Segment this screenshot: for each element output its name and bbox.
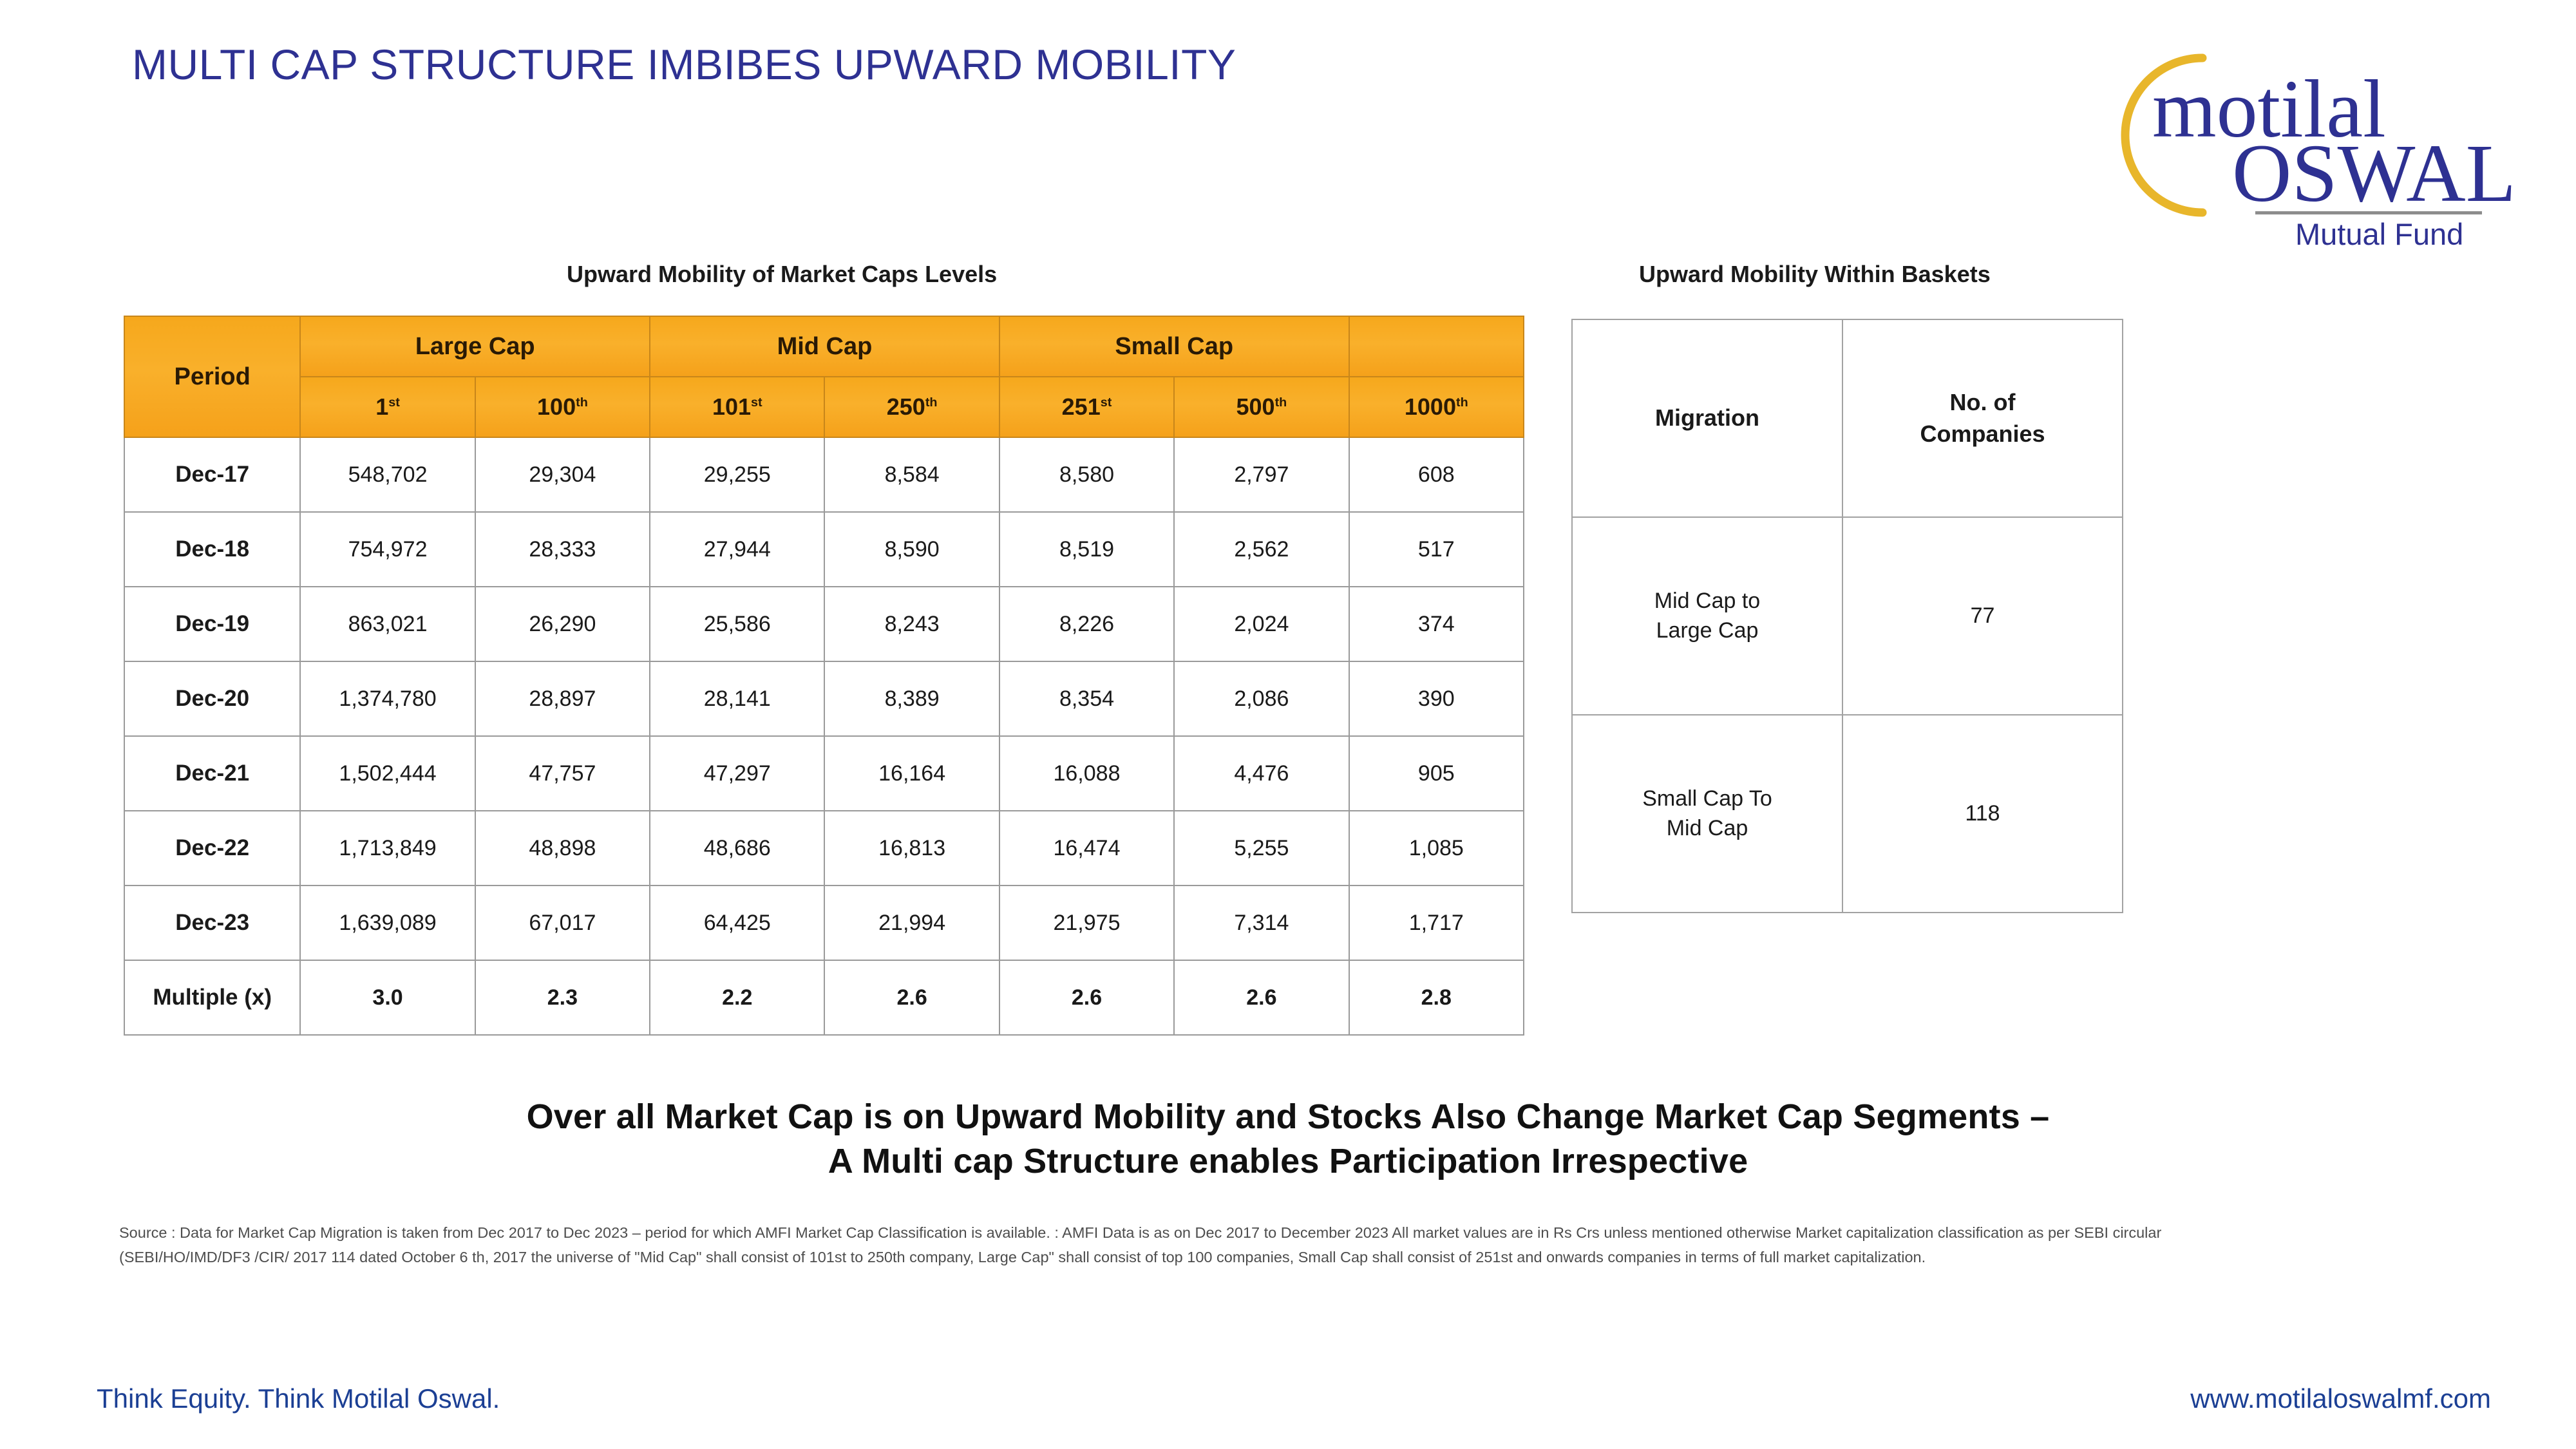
table-row: Dec-20 1,374,780 28,897 28,141 8,389 8,3… [124,661,1524,736]
row-period: Dec-21 [124,736,300,811]
footer-website-link[interactable]: www.motilaloswalmf.com [2190,1383,2491,1414]
cell-value: 754,972 [300,512,475,587]
cell-value: 67,017 [475,885,650,960]
cell-value: 16,088 [999,736,1174,811]
cell-value: 5,255 [1174,811,1349,885]
table-head: Period Large Cap Mid Cap Small Cap 1st 1… [124,316,1524,437]
rank-num: 251 [1062,393,1101,420]
header-rank-250th: 250th [824,377,999,437]
cell-multiple: 2.3 [475,960,650,1035]
header-companies-line2: Companies [1920,421,2045,447]
table-row: Mid Cap to Large Cap 77 [1572,517,2123,715]
rank-ord: th [1275,395,1287,410]
baskets-table-head: Migration No. of Companies [1572,319,2123,517]
cell-value: 1,085 [1349,811,1524,885]
header-group-empty [1349,316,1524,377]
cell-value: 374 [1349,587,1524,661]
cell-value: 48,898 [475,811,650,885]
rank-ord: st [1101,395,1112,410]
cell-value: 47,757 [475,736,650,811]
cell-value: 548,702 [300,437,475,512]
cell-migration: Small Cap To Mid Cap [1572,715,1842,913]
cell-value: 21,994 [824,885,999,960]
header-rank-101st: 101st [650,377,824,437]
cell-multiple: 2.6 [1174,960,1349,1035]
cell-value: 47,297 [650,736,824,811]
table-row: Dec-18 754,972 28,333 27,944 8,590 8,519… [124,512,1524,587]
cell-value: 517 [1349,512,1524,587]
upward-mobility-baskets-table: Migration No. of Companies Mid Cap to La… [1571,319,2123,913]
cell-value: 7,314 [1174,885,1349,960]
cell-value: 1,717 [1349,885,1524,960]
row-label-multiple: Multiple (x) [124,960,300,1035]
table-row: Dec-17 548,702 29,304 29,255 8,584 8,580… [124,437,1524,512]
cell-multiple: 2.2 [650,960,824,1035]
cell-value: 8,243 [824,587,999,661]
table-row: Small Cap To Mid Cap 118 [1572,715,2123,913]
cell-value: 48,686 [650,811,824,885]
cell-multiple: 2.6 [824,960,999,1035]
cell-value: 27,944 [650,512,824,587]
header-rank-100th: 100th [475,377,650,437]
cell-multiple: 2.8 [1349,960,1524,1035]
migration-line1: Small Cap To [1642,786,1772,811]
rank-ord: st [751,395,762,410]
header-no-of-companies: No. of Companies [1842,319,2123,517]
header-rank-251st: 251st [999,377,1174,437]
rank-ord: th [576,395,588,410]
table-row: Dec-23 1,639,089 67,017 64,425 21,994 21… [124,885,1524,960]
rank-num: 500 [1236,393,1274,420]
cell-value: 21,975 [999,885,1174,960]
header-rank-500th: 500th [1174,377,1349,437]
cell-migration: Mid Cap to Large Cap [1572,517,1842,715]
cell-value: 29,304 [475,437,650,512]
table-row: Dec-19 863,021 26,290 25,586 8,243 8,226… [124,587,1524,661]
cell-value: 16,474 [999,811,1174,885]
cell-multiple: 2.6 [999,960,1174,1035]
rank-num: 1 [375,393,388,420]
header-group-small-cap: Small Cap [999,316,1349,377]
right-table-caption: Upward Mobility Within Baskets [1639,261,1991,288]
cell-value: 8,389 [824,661,999,736]
rank-ord: st [388,395,400,410]
rank-ord: th [1456,395,1468,410]
cell-value: 28,897 [475,661,650,736]
cell-value: 16,813 [824,811,999,885]
row-period: Dec-23 [124,885,300,960]
header-migration: Migration [1572,319,1842,517]
header-companies-line1: No. of [1950,389,2016,415]
left-table-caption: Upward Mobility of Market Caps Levels [567,261,997,288]
header-group-mid-cap: Mid Cap [650,316,999,377]
migration-line1: Mid Cap to [1654,589,1760,613]
cell-value: 29,255 [650,437,824,512]
rank-num: 1000 [1405,393,1456,420]
market-cap-mobility-table: Period Large Cap Mid Cap Small Cap 1st 1… [124,316,1524,1036]
footer-tagline: Think Equity. Think Motilal Oswal. [97,1383,500,1414]
cell-value: 8,354 [999,661,1174,736]
cell-value: 25,586 [650,587,824,661]
cell-value: 64,425 [650,885,824,960]
cell-value: 8,584 [824,437,999,512]
table-body: Dec-17 548,702 29,304 29,255 8,584 8,580… [124,437,1524,1035]
cell-value: 8,519 [999,512,1174,587]
cell-value: 8,590 [824,512,999,587]
header-rank-1000th: 1000th [1349,377,1524,437]
rank-ord: th [925,395,938,410]
table-row: Dec-22 1,713,849 48,898 48,686 16,813 16… [124,811,1524,885]
cell-value: 16,164 [824,736,999,811]
migration-line2: Large Cap [1656,618,1759,643]
migration-line2: Mid Cap [1667,816,1748,840]
row-period: Dec-20 [124,661,300,736]
rank-num: 250 [887,393,925,420]
cell-multiple: 3.0 [300,960,475,1035]
tagline-line-2: A Multi cap Structure enables Participat… [0,1139,2576,1184]
logo-word-oswal: OSWAL [2232,128,2516,219]
cell-value: 905 [1349,736,1524,811]
sub-header-row: 1st 100th 101st 250th 251st 500th 1000th [124,377,1524,437]
tagline-line-1: Over all Market Cap is on Upward Mobilit… [0,1095,2576,1139]
cell-value: 8,580 [999,437,1174,512]
table-row: Dec-21 1,502,444 47,757 47,297 16,164 16… [124,736,1524,811]
group-header-row: Period Large Cap Mid Cap Small Cap [124,316,1524,377]
key-takeaway-tagline: Over all Market Cap is on Upward Mobilit… [0,1095,2576,1184]
cell-value: 1,639,089 [300,885,475,960]
motilal-oswal-logo: motilal OSWAL Mutual Fund [2106,39,2518,251]
logo-word-mutual-fund: Mutual Fund [2295,217,2463,251]
row-period: Dec-19 [124,587,300,661]
row-period: Dec-18 [124,512,300,587]
cell-value: 2,024 [1174,587,1349,661]
baskets-header-row: Migration No. of Companies [1572,319,2123,517]
rank-num: 101 [712,393,751,420]
source-disclaimer: Source : Data for Market Cap Migration i… [119,1220,2167,1269]
cell-value: 26,290 [475,587,650,661]
cell-value: 1,502,444 [300,736,475,811]
header-period: Period [124,316,300,437]
cell-company-count: 118 [1842,715,2123,913]
cell-value: 4,476 [1174,736,1349,811]
cell-value: 390 [1349,661,1524,736]
table-row-multiple: Multiple (x) 3.0 2.3 2.2 2.6 2.6 2.6 2.8 [124,960,1524,1035]
cell-value: 28,141 [650,661,824,736]
header-rank-1st: 1st [300,377,475,437]
logo-divider [2255,211,2482,214]
header-group-large-cap: Large Cap [300,316,650,377]
cell-value: 2,562 [1174,512,1349,587]
rank-num: 100 [537,393,576,420]
cell-value: 2,086 [1174,661,1349,736]
cell-value: 863,021 [300,587,475,661]
baskets-table-body: Mid Cap to Large Cap 77 Small Cap To Mid… [1572,517,2123,913]
page-title: MULTI CAP STRUCTURE IMBIBES UPWARD MOBIL… [132,40,1236,89]
cell-value: 608 [1349,437,1524,512]
row-period: Dec-17 [124,437,300,512]
cell-company-count: 77 [1842,517,2123,715]
row-period: Dec-22 [124,811,300,885]
cell-value: 1,374,780 [300,661,475,736]
cell-value: 8,226 [999,587,1174,661]
cell-value: 28,333 [475,512,650,587]
cell-value: 2,797 [1174,437,1349,512]
cell-value: 1,713,849 [300,811,475,885]
